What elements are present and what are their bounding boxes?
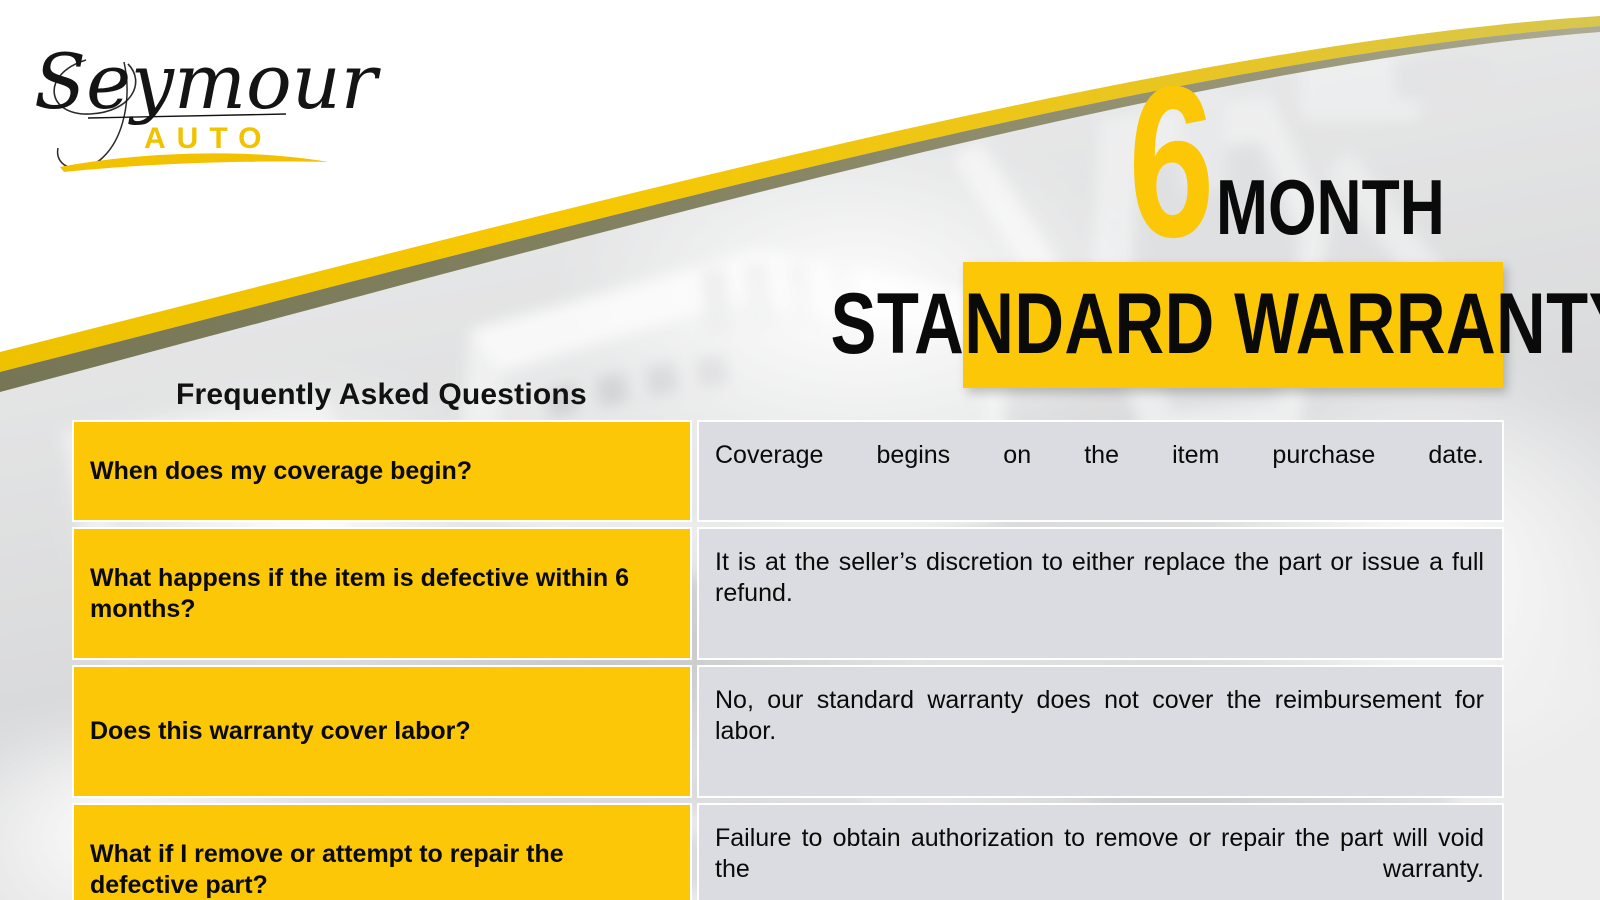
faq-answer-text: Failure to obtain authorization to remov… (715, 823, 1484, 900)
faq-question-text: When does my coverage begin? (90, 456, 472, 487)
faq-question-cell: When does my coverage begin? (72, 420, 692, 522)
faq-answer-text: No, our standard warranty does not cover… (715, 685, 1484, 778)
standard-warranty-banner: STANDARD WARRANTY (963, 262, 1503, 388)
faq-answer-cell: No, our standard warranty does not cover… (697, 665, 1504, 798)
faq-answer-text: Coverage begins on the item purchase dat… (715, 440, 1484, 502)
table-row: Does this warranty cover labor? No, our … (72, 665, 1504, 798)
table-row: When does my coverage begin? Coverage be… (72, 420, 1504, 522)
logo-auto-text: AUTO (144, 122, 272, 155)
logo-script-text: Seymour (34, 37, 382, 126)
table-row: What if I remove or attempt to repair th… (72, 803, 1504, 900)
faq-answer-cell: Coverage begins on the item purchase dat… (697, 420, 1504, 522)
faq-question-text: Does this warranty cover labor? (90, 716, 471, 747)
faq-question-cell: What happens if the item is defective wi… (72, 527, 692, 660)
faq-question-text: What happens if the item is defective wi… (90, 563, 670, 624)
warranty-slide: Seymour AUTO 6 MONTH STANDARD WARRANTY F… (0, 0, 1600, 900)
faq-answer-cell: Failure to obtain authorization to remov… (697, 803, 1504, 900)
faq-heading: Frequently Asked Questions (176, 378, 587, 412)
faq-question-cell: What if I remove or attempt to repair th… (72, 803, 692, 900)
table-row: What happens if the item is defective wi… (72, 527, 1504, 660)
faq-table: When does my coverage begin? Coverage be… (72, 420, 1504, 900)
faq-answer-text: It is at the seller’s discretion to eith… (715, 547, 1484, 640)
faq-question-text: What if I remove or attempt to repair th… (90, 839, 670, 900)
duration-unit-label: MONTH (1216, 176, 1445, 240)
faq-question-cell: Does this warranty cover labor? (72, 665, 692, 798)
duration-number: 6 (1129, 78, 1212, 246)
seymour-auto-logo: Seymour AUTO (28, 22, 338, 172)
warranty-duration: 6 MONTH (1096, 78, 1502, 246)
standard-warranty-banner-text: STANDARD WARRANTY (831, 286, 1600, 363)
faq-answer-cell: It is at the seller’s discretion to eith… (697, 527, 1504, 660)
